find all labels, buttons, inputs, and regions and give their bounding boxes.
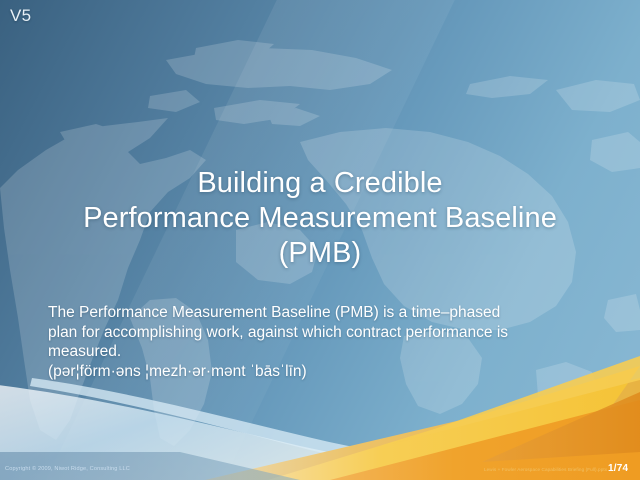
body-line-1: The Performance Measurement Baseline (PM… [48, 303, 578, 323]
body-line-2: plan for accomplishing work, against whi… [48, 323, 578, 343]
source-filename-label: Lewis + Fowler Aerospace Capabilities Br… [484, 467, 607, 472]
body-line-3: measured. [48, 342, 578, 362]
version-label: V5 [10, 6, 31, 26]
title-line-3: (PMB) [0, 236, 640, 271]
slide-body-text: The Performance Measurement Baseline (PM… [48, 303, 578, 381]
copyright-notice: Copyright © 2009, Niwot Ridge, Consultin… [5, 466, 130, 472]
slide-title: Building a Credible Performance Measurem… [0, 166, 640, 271]
title-line-1: Building a Credible [0, 166, 640, 201]
title-line-2: Performance Measurement Baseline [0, 201, 640, 236]
slide-number: 1/74 [608, 463, 628, 474]
pronunciation-text: (pər¦förm·əns ¦mezh·ər·mənt ˈbāsˈlīn) [48, 362, 578, 382]
presentation-slide: V5 Building a Credible Performance Measu… [0, 0, 640, 480]
